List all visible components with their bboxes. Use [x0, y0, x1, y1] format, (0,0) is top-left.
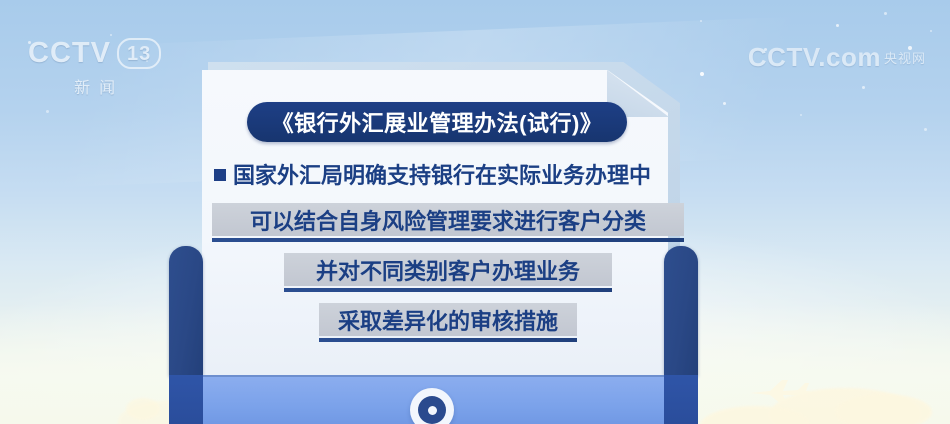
highlighted-line: 可以结合自身风险管理要求进行客户分类	[212, 203, 684, 236]
star-dot	[884, 12, 887, 15]
channel-logo-text: CCTV	[28, 39, 111, 68]
base-cap-left	[169, 375, 203, 424]
star-dot	[930, 30, 932, 32]
channel-logo: CCTV 13 新闻	[28, 38, 161, 98]
airplane-icon	[748, 378, 814, 404]
highlighted-line-text: 并对不同类别客户办理业务	[316, 254, 580, 286]
highlighted-line-text: 采取差异化的审核措施	[338, 304, 558, 336]
ring-lens-icon	[410, 388, 454, 424]
star-dot	[924, 128, 927, 131]
lens-ring	[418, 396, 446, 424]
highlighted-line: 采取差异化的审核措施	[319, 303, 577, 336]
base-cap-right	[664, 375, 698, 424]
document-content: 《银行外汇展业管理办法(试行)》 国家外汇局明确支持银行在实际业务办理中 可以结…	[202, 70, 668, 375]
document-title-pill: 《银行外汇展业管理办法(试行)》	[247, 102, 627, 142]
channel-number: 13	[117, 38, 161, 69]
channel-subtitle: 新闻	[28, 74, 161, 98]
site-watermark: CCTV.com 央视网	[748, 44, 926, 70]
document-spine-left	[169, 246, 203, 376]
square-bullet-icon	[214, 169, 226, 181]
star-dot	[46, 110, 49, 113]
bullet-text: 国家外汇局明确支持银行在实际业务办理中	[233, 158, 651, 190]
star-dot	[862, 86, 865, 89]
lens-core	[428, 406, 437, 415]
star-dot	[700, 20, 702, 22]
document-spine-right	[664, 246, 698, 376]
bullet-line: 国家外汇局明确支持银行在实际业务办理中	[214, 158, 664, 190]
star-dot	[836, 24, 839, 27]
star-dot	[700, 72, 704, 76]
star-dot	[800, 114, 802, 116]
watermark-text: CCTV.com	[748, 44, 881, 70]
cloud-shape	[126, 398, 160, 420]
highlighted-line: 并对不同类别客户办理业务	[284, 253, 612, 286]
highlighted-line-text: 可以结合自身风险管理要求进行客户分类	[250, 204, 646, 236]
cloud-shape	[836, 394, 932, 424]
star-dot	[110, 34, 112, 36]
broadcast-screen: CCTV 13 新闻 CCTV.com 央视网 《银行外汇展业管理办法(试行)》…	[0, 0, 950, 424]
watermark-cn-text: 央视网	[884, 52, 926, 70]
star-dot	[723, 102, 726, 105]
page-title: 《银行外汇展业管理办法(试行)》	[272, 106, 603, 138]
